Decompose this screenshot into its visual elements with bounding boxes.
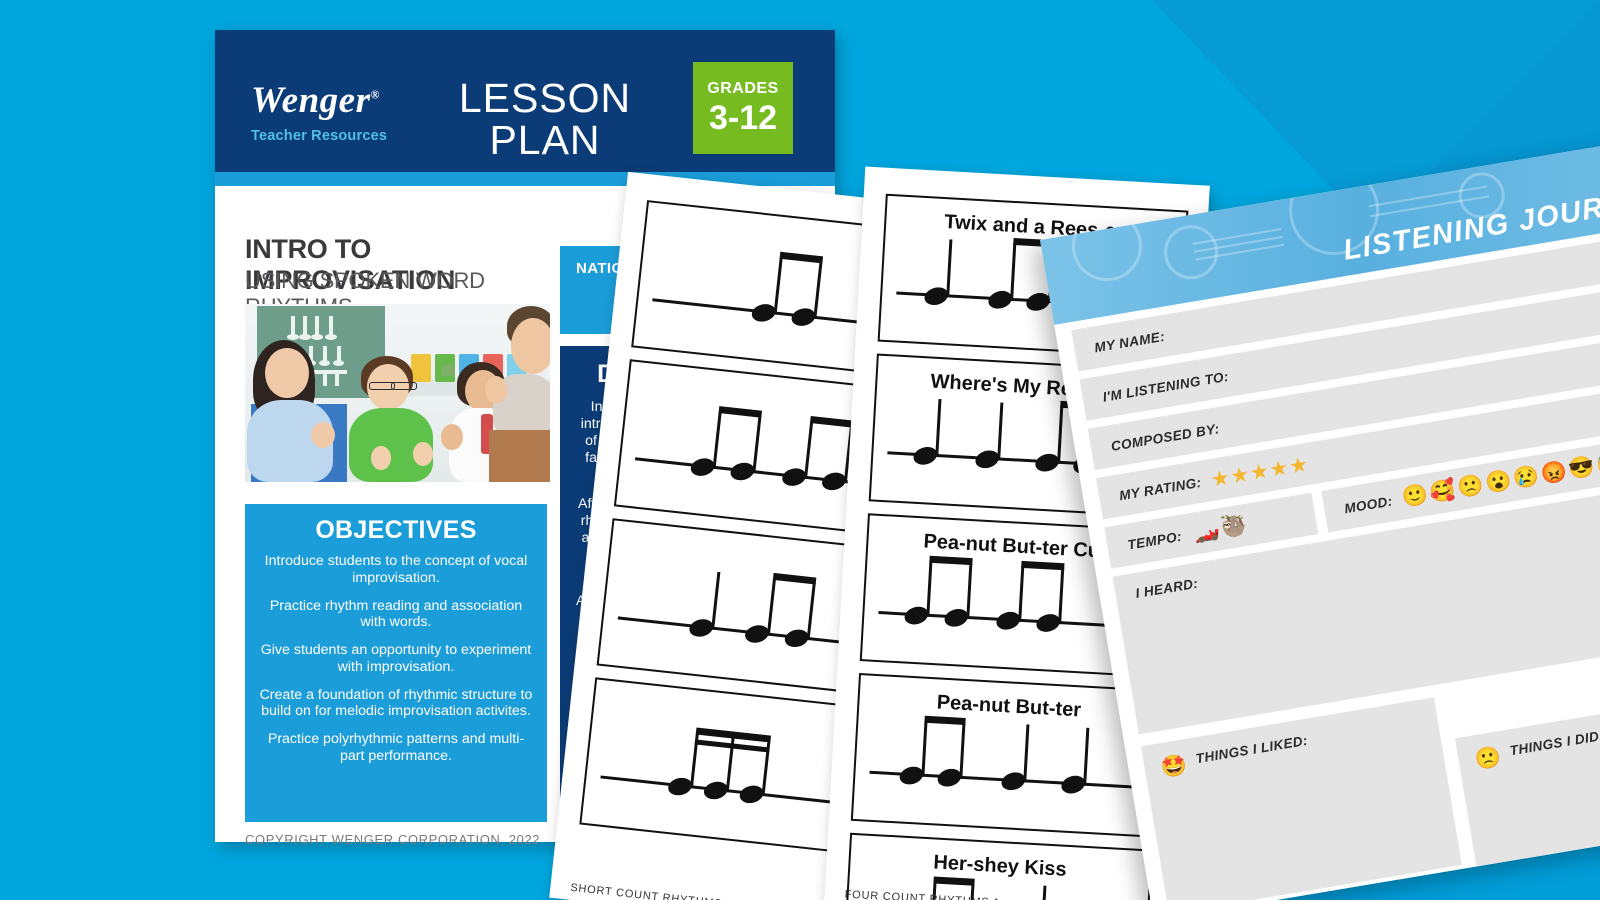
objective-item: Create a foundation of rhythmic structur…: [259, 687, 533, 721]
wenger-logo: Wenger®: [251, 82, 431, 119]
field-label: I'M LISTENING TO:: [1102, 368, 1230, 404]
note-group: [607, 710, 863, 822]
document-type-title: LESSON PLAN: [420, 78, 670, 162]
angry-face-icon[interactable]: 😡: [1539, 459, 1569, 487]
rhythm-card: Her-shey Kiss: [842, 833, 1153, 900]
frowning-face-icon: 🙁: [1473, 745, 1503, 773]
objective-item: Practice polyrhythmic patterns and multi…: [259, 731, 533, 765]
objectives-title: OBJECTIVES: [259, 516, 533, 545]
objective-item: Give students an opportunity to experime…: [259, 642, 533, 676]
rating-stars[interactable]: ★★★★★: [1209, 451, 1311, 492]
face-with-open-mouth-icon[interactable]: 😮: [1484, 469, 1514, 497]
lesson-plan-header: Wenger® Teacher Resources LESSON PLAN GR…: [215, 30, 835, 172]
copyright-notice: COPYRIGHT WENGER CORPORATION, 2022: [245, 832, 540, 847]
registered-trademark-icon: ®: [370, 88, 379, 102]
grades-badge-value: 3-12: [709, 101, 777, 135]
objective-item: Practice rhythm reading and association …: [259, 598, 533, 632]
field-label: MOOD:: [1343, 493, 1393, 516]
slightly-frowning-face-icon[interactable]: 🙁: [1456, 473, 1486, 501]
field-label: MY NAME:: [1093, 328, 1166, 355]
smiling-face-with-hearts-icon[interactable]: 🥰: [1428, 478, 1458, 506]
field-label: MY RATING:: [1118, 474, 1202, 502]
objective-item: Introduce students to the concept of voc…: [259, 553, 533, 587]
sunglasses-face-icon[interactable]: 😎: [1567, 455, 1597, 483]
objectives-panel: OBJECTIVES Introduce students to the con…: [245, 504, 547, 822]
note-group: [877, 704, 1144, 805]
field-label: TEMPO:: [1126, 528, 1183, 552]
screenshot-canvas: Wenger® Teacher Resources LESSON PLAN GR…: [0, 0, 1600, 900]
race-car-icon[interactable]: 🏎️: [1192, 518, 1222, 546]
field-label: THINGS I LIKED:: [1195, 733, 1309, 766]
star-struck-face-icon: 🤩: [1159, 753, 1189, 781]
grades-badge-label: GRADES: [707, 81, 778, 97]
classroom-photo: [245, 304, 550, 482]
grades-badge: GRADES 3-12: [693, 62, 793, 154]
field-label: COMPOSED BY:: [1110, 421, 1221, 454]
slightly-smiling-face-icon[interactable]: 🙂: [1400, 483, 1430, 511]
crying-face-icon[interactable]: 😢: [1511, 464, 1541, 492]
wenger-wordmark: Wenger: [251, 80, 370, 121]
sheet-caption: SHORT COUNT RHYTHMS BLANK: [570, 882, 767, 900]
field-label: THINGS I DIDN'T LIKE:: [1509, 718, 1600, 758]
tempo-icon-row[interactable]: 🏎️ 🦥: [1192, 513, 1250, 546]
rhythm-card: Pea-nut But-ter: [851, 673, 1162, 838]
field-things-i-liked[interactable]: 🤩 THINGS I LIKED:: [1141, 697, 1462, 900]
field-label: I HEARD:: [1134, 576, 1199, 601]
sloth-icon[interactable]: 🦥: [1219, 513, 1249, 541]
